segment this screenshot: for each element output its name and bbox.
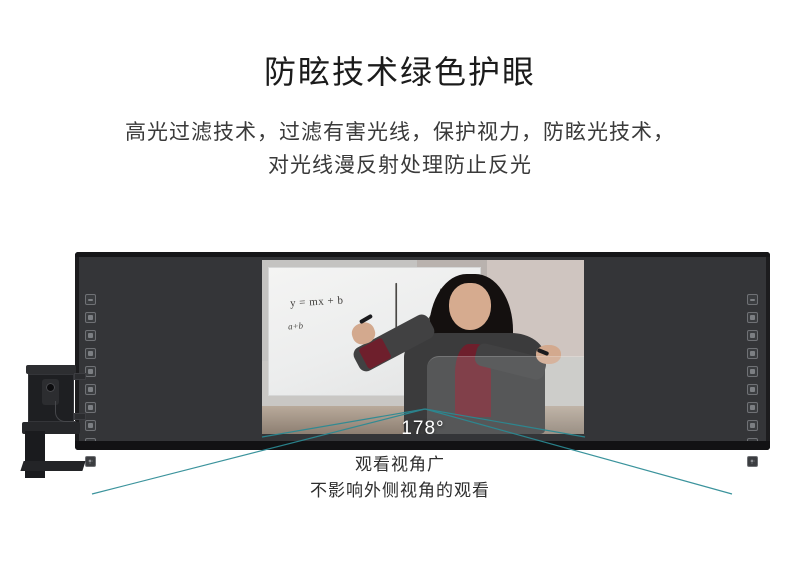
caption-line-1: 观看视角广 <box>0 452 800 478</box>
podium-top-plate <box>26 365 76 374</box>
whiteboard-note: a+b <box>288 321 304 332</box>
device-bottom-edge <box>75 441 770 450</box>
subheadline-line-2: 对光线漫反射处理防止反光 <box>0 149 800 182</box>
podium-mount-lower <box>74 413 86 420</box>
device-top-edge <box>75 252 770 257</box>
display-icon[interactable] <box>747 294 758 305</box>
brightness-down-icon[interactable] <box>85 330 96 341</box>
screen-frame-icon[interactable] <box>747 348 758 359</box>
interactive-blackboard: y = mx + b a+b 178° <box>75 252 770 450</box>
right-writing-panel[interactable] <box>583 257 766 442</box>
screen-frame-icon[interactable] <box>85 348 96 359</box>
display-screen[interactable]: y = mx + b a+b 178° <box>262 260 584 434</box>
volume-up-icon[interactable] <box>85 366 96 377</box>
headline-block: 防眩技术绿色护眼 <box>0 50 800 94</box>
volume-down-icon[interactable] <box>747 384 758 395</box>
power-icon[interactable] <box>747 402 758 413</box>
power-icon[interactable] <box>85 402 96 413</box>
page-title: 防眩技术绿色护眼 <box>0 50 800 94</box>
whiteboard-equation: y = mx + b <box>290 294 344 309</box>
podium-cable <box>55 401 76 422</box>
presenter-face <box>449 283 491 330</box>
grid-icon[interactable] <box>85 420 96 431</box>
brightness-down-icon[interactable] <box>747 330 758 341</box>
volume-up-icon[interactable] <box>747 366 758 377</box>
brightness-up-icon[interactable] <box>85 312 96 323</box>
grid-icon[interactable] <box>747 420 758 431</box>
subheadline-line-1: 高光过滤技术，过滤有害光线，保护视力，防眩光技术， <box>0 116 800 149</box>
subheadline-block: 高光过滤技术，过滤有害光线，保护视力，防眩光技术， 对光线漫反射处理防止反光 <box>0 116 800 182</box>
brightness-up-icon[interactable] <box>747 312 758 323</box>
podium-mount-upper <box>74 373 86 380</box>
left-writing-panel[interactable] <box>79 257 262 442</box>
volume-down-icon[interactable] <box>85 384 96 395</box>
display-icon[interactable] <box>85 294 96 305</box>
caption-block: 观看视角广 不影响外侧视角的观看 <box>0 452 800 504</box>
caption-line-2: 不影响外侧视角的观看 <box>0 478 800 504</box>
viewing-angle-label: 178° <box>262 418 584 434</box>
